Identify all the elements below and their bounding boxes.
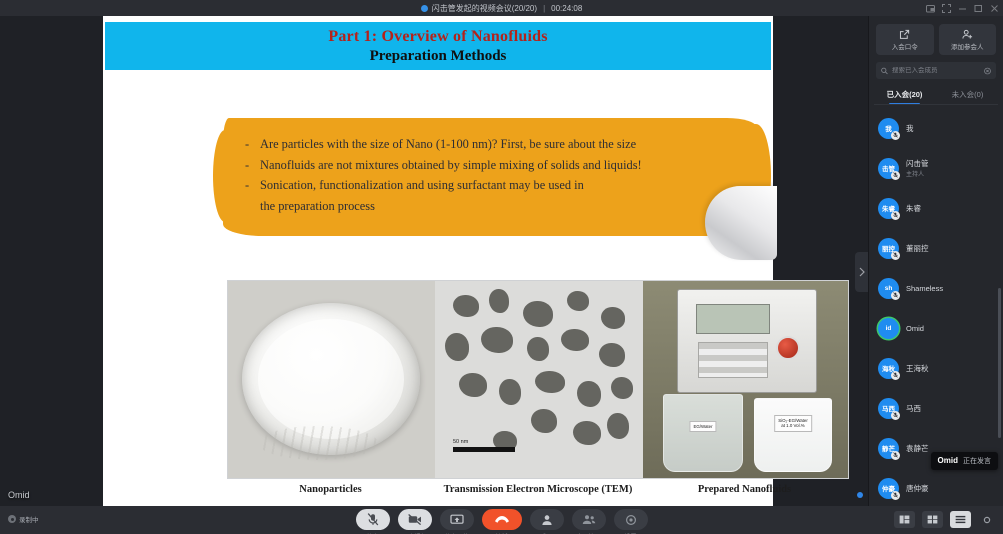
slide-title-line2: Preparation Methods [370,48,507,65]
participant-role: 主持人 [906,169,929,178]
participant-name: 王海秋 [906,364,929,373]
list-item[interactable]: 丽控 董丽控 [869,228,1003,268]
mic-muted-icon [891,211,900,220]
tem-particle [599,343,625,367]
list-item[interactable]: 仲豪 唐仲豪 [869,468,1003,506]
mic-muted-icon [891,251,900,260]
add-participant-button[interactable]: 添加参会人 [939,24,997,55]
more-options-icon [983,516,991,524]
participant-list[interactable]: 我 我 击管 闪击管 主持人 朱睿 [869,104,1003,506]
tem-particle [531,409,557,433]
participant-meta: 唐仲豪 [906,484,929,493]
participant-meta: 董丽控 [906,244,929,253]
participant-meta: 马西 [906,404,921,413]
avatar: id [878,318,899,339]
tab-not-joined[interactable]: 未入会(0) [936,85,999,105]
device-display [696,304,770,334]
share-link-icon [899,29,910,40]
participant-name: 闪击管 [906,159,929,168]
participant-meta: 闪击管 主持人 [906,159,929,178]
maximize-icon[interactable] [974,4,983,13]
tem-particle [445,333,469,361]
hangup-button[interactable]: 挂断 [482,509,522,534]
mic-muted-icon [367,513,379,526]
participant-scrollbar[interactable] [999,108,1002,502]
avatar-initials: 我 [885,123,892,133]
avatar-initials: id [886,325,892,332]
tem-particle [489,289,509,313]
tem-scalebar-label: 50 nm [453,439,468,445]
device-keypad [698,342,768,378]
participant-meta: 袁静芒 [906,444,929,453]
member-management-button[interactable]: 全员管理 [572,509,606,534]
list-item: - Nanofluids are not mixtures obtained b… [245,155,739,176]
grid-view-icon [927,515,938,524]
fullscreen-icon[interactable] [942,4,951,13]
participant-name: 唐仲豪 [906,484,929,493]
avatar: sh [878,278,899,299]
tem-particle [561,329,589,351]
tab-joined[interactable]: 已入会(20) [873,85,936,105]
participant-name: 我 [906,124,914,133]
members-pill[interactable] [530,509,564,530]
caption-prepared-nanofluids: Prepared Nanofluids [642,484,847,504]
member-management-pill[interactable] [572,509,606,530]
participant-name: 董丽控 [906,244,929,253]
search-row [869,55,1003,79]
share-screen-button[interactable]: 共享屏幕 [440,509,474,534]
bullet-text: Nanofluids are not mixtures obtained by … [260,155,642,176]
camera-pill[interactable] [398,509,432,530]
participant-meta: Omid [906,324,924,333]
slide-photo-strip: 50 nm EG/Water SiO₂-EG/Water [227,280,849,479]
speaking-tooltip: Omid 正在发言 [931,452,998,470]
people-icon [582,514,596,525]
sonicator-device [677,289,817,393]
slide-header: Part 1: Overview of Nanofluids Preparati… [105,22,771,70]
bullet-marker: - [245,134,252,155]
tooltip-name: Omid [938,456,958,465]
bullet-marker: - [245,175,252,196]
mic-muted-icon [891,291,900,300]
avatar-initials: sh [885,285,893,292]
avatar: 静芒 [878,438,899,459]
beaker-label: SiO₂-EG/Water at 1.0 Vol.% [774,415,812,432]
device-knob [776,336,800,360]
bullet-marker: - [245,155,252,176]
slide-bullet-list: - Are particles with the size of Nano (1… [245,134,739,216]
list-view-icon [955,515,966,524]
camera-button[interactable]: 开启视频 [398,509,432,534]
avatar: 我 [878,118,899,139]
caption-nanoparticles: Nanoparticles [227,484,434,504]
invite-code-button[interactable]: 入会口令 [876,24,934,55]
avatar: 朱睿 [878,198,899,219]
meeting-controls: 静音 开启视频 共享屏幕 挂断 [0,509,1003,534]
participant-name: 马西 [906,404,921,413]
participant-name: Omid [906,324,924,333]
bottom-toolbar: 录制中 静音 开启视频 共享屏幕 [0,506,1003,534]
add-participant-label: 添加参会人 [951,41,984,51]
avatar: 击管 [878,158,899,179]
speaker-nameplate: Omid [8,490,30,500]
meeting-status-icon [421,5,428,12]
scrollbar-thumb[interactable] [998,288,1001,438]
participant-name: 朱睿 [906,204,921,213]
members-button[interactable]: 成员 [530,509,564,534]
tem-particle [573,421,601,445]
bullet-continuation: the preparation process [260,196,739,217]
avatar: 仲豪 [878,478,899,499]
list-item[interactable]: 朱睿 朱睿 [869,188,1003,228]
search-icon [881,67,888,75]
title-bar: 闪击管发起的视频会议(20/20) | 00:24:08 [0,0,1003,16]
settings-button[interactable]: 设置 [614,509,648,534]
meeting-title: 闪击管发起的视频会议(20/20) [432,3,537,14]
participant-meta: 朱睿 [906,204,921,213]
tem-particle [577,381,601,407]
tem-scalebar [453,447,515,452]
slide-bullet-panel: - Are particles with the size of Nano (1… [215,104,775,254]
tem-particle [601,307,625,329]
tem-particle [611,377,633,399]
clear-icon[interactable] [984,67,991,75]
sidebar-view-icon [899,515,910,524]
tem-particle [459,373,487,397]
mic-muted-icon [891,411,900,420]
participant-search-box[interactable] [876,62,996,79]
list-view-button[interactable] [950,511,971,528]
meeting-window: 闪击管发起的视频会议(20/20) | 00:24:08 [0,0,1003,534]
list-item[interactable]: 击管 闪击管 主持人 [869,148,1003,188]
chevron-right-icon [859,267,865,277]
list-item[interactable]: id Omid [869,308,1003,348]
tem-particle [535,371,565,393]
panel-collapse-handle[interactable] [855,252,868,292]
list-item: - Are particles with the size of Nano (1… [245,134,739,155]
person-icon [541,514,553,526]
active-speaker-indicator [857,492,863,498]
tem-particle [527,337,549,361]
beaker-eg-water: EG/Water [663,394,743,472]
hangup-pill[interactable] [482,509,522,530]
list-item: - Sonication, functionalization and usin… [245,175,739,196]
participant-meta: 王海秋 [906,364,929,373]
participant-name: 袁静芒 [906,444,929,453]
panel-action-row: 入会口令 添加参会人 [869,16,1003,55]
participant-meta: Shameless [906,284,943,293]
minimize-icon[interactable] [958,4,967,13]
avatar: 丽控 [878,238,899,259]
shared-slide: Part 1: Overview of Nanofluids Preparati… [103,16,773,506]
meeting-title-group: 闪击管发起的视频会议(20/20) | 00:24:08 [421,3,583,14]
photo-prepared-nanofluids: EG/Water SiO₂-EG/Water at 1.0 Vol.% [643,281,848,478]
add-person-icon [962,29,973,40]
mute-button[interactable]: 静音 [356,509,390,534]
title-separator: | [543,4,545,13]
mic-muted-icon [891,451,900,460]
photo-tem: 50 nm [435,281,643,478]
list-item[interactable]: sh Shameless [869,268,1003,308]
video-stage: Part 1: Overview of Nanofluids Preparati… [0,16,868,506]
sidebar-view-button[interactable] [894,511,915,528]
screen-share-icon [450,514,464,526]
grid-view-button[interactable] [922,511,943,528]
more-options-button[interactable] [978,511,995,528]
slide-caption-row: Nanoparticles Transmission Electron Micr… [227,484,849,504]
tooltip-state: 正在发言 [963,456,991,466]
participant-tabs: 已入会(20) 未入会(0) [869,85,1003,105]
picture-in-picture-icon[interactable] [926,4,935,13]
list-item[interactable]: 海秋 王海秋 [869,348,1003,388]
tem-particle [567,291,589,311]
participant-meta: 我 [906,124,914,133]
caption-tem: Transmission Electron Microscope (TEM) [434,484,642,504]
mute-pill[interactable] [356,509,390,530]
list-item[interactable]: 马西 马西 [869,388,1003,428]
avatar: 海秋 [878,358,899,379]
search-input[interactable] [892,67,980,74]
tem-particle [523,301,553,327]
mic-muted-icon [891,491,900,500]
beaker-sio2-eg-water: SiO₂-EG/Water at 1.0 Vol.% [754,398,832,472]
camera-off-icon [408,514,422,525]
slide-title-line1: Part 1: Overview of Nanofluids [328,28,547,46]
share-screen-pill[interactable] [440,509,474,530]
invite-code-label: 入会口令 [892,41,918,51]
tem-particle [499,379,521,405]
mic-muted-icon [891,171,900,180]
list-item[interactable]: 我 我 [869,108,1003,148]
layout-view-controls [894,511,995,528]
hangup-icon [494,515,510,524]
beaker-label: EG/Water [689,421,716,432]
window-controls [926,0,999,16]
settings-icon [625,514,637,526]
participants-panel: 入会口令 添加参会人 已入会(20) 未入会(0) 我 [868,16,1003,506]
bullet-text: Sonication, functionalization and using … [260,175,584,196]
close-icon[interactable] [990,4,999,13]
avatar: 马西 [878,398,899,419]
meeting-timer: 00:24:08 [551,4,582,13]
mic-muted-icon [891,131,900,140]
settings-pill[interactable] [614,509,648,530]
tem-particle [481,327,513,353]
bullet-text: Are particles with the size of Nano (1-1… [260,134,636,155]
tem-particle [607,413,629,439]
photo-nanoparticles [228,281,435,478]
participant-name: Shameless [906,284,943,293]
mic-muted-icon [891,371,900,380]
dish-texture [258,426,378,460]
tem-micrograph: 50 nm [435,281,643,478]
tem-particle [453,295,479,317]
